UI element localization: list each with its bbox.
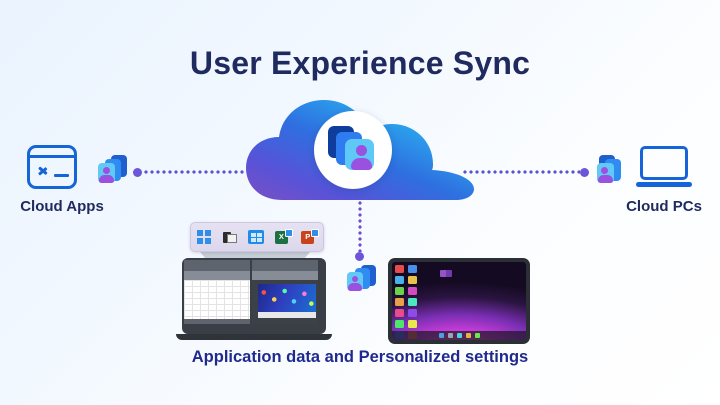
windows-logo-icon[interactable] [196, 229, 213, 246]
taskbar-app-icon[interactable] [475, 333, 480, 338]
person-body-icon [348, 283, 362, 291]
person-head-icon [601, 167, 608, 174]
taskbar-search-icon[interactable] [448, 333, 453, 338]
terminal-prompt-line [54, 174, 69, 177]
endpoint-label-cloud-apps: Cloud Apps [0, 198, 142, 215]
laptop-icon [636, 146, 692, 190]
terminal-console-icon [27, 145, 77, 189]
status-bar [184, 319, 250, 324]
person-body-icon [598, 175, 613, 183]
ribbon-bar [252, 260, 318, 271]
window-preview [440, 270, 452, 277]
person-head-icon [103, 167, 110, 174]
badge-cards-person-right [595, 152, 631, 188]
taskbar-start-icon[interactable] [439, 333, 444, 338]
laptop-bezel [182, 258, 326, 334]
badge-cards-person-bottom [344, 263, 380, 297]
endpoint-cloud-apps[interactable] [22, 145, 82, 195]
powerpoint-app-icon[interactable]: P [301, 229, 318, 246]
chart-legend [258, 312, 316, 318]
terminal-titlebar [30, 155, 74, 158]
sync-badge [285, 229, 293, 237]
ribbon-tools [252, 271, 318, 280]
right-connector-dot [580, 168, 589, 177]
diagram-caption: Application data and Personalized settin… [0, 348, 720, 367]
stacked-cards-person-icon [328, 126, 380, 176]
tablet-taskbar[interactable] [392, 331, 526, 340]
taskbar-app-icon[interactable] [457, 333, 462, 338]
laptop-base [636, 182, 692, 187]
laptop-foot [176, 334, 332, 340]
sync-badge [311, 229, 319, 237]
desktop-icons[interactable] [395, 265, 421, 330]
tablet-device[interactable] [388, 258, 530, 344]
spreadsheet-grid [184, 280, 250, 324]
taskbar-app-icon[interactable] [466, 333, 471, 338]
ribbon-tools [184, 271, 250, 280]
tablet-screen [392, 262, 526, 340]
left-connector-dot [133, 168, 142, 177]
spreadsheet-window[interactable] [184, 260, 250, 324]
bottom-connector-line [358, 200, 362, 252]
excel-app-icon[interactable]: X [275, 229, 292, 246]
endpoint-label-cloud-pcs: Cloud PCs [584, 198, 720, 215]
right-connector-line [462, 170, 580, 174]
windows-taskbar[interactable]: X P [190, 222, 324, 252]
bottom-connector-dot [355, 252, 364, 261]
ribbon-bar [184, 260, 250, 271]
chart-canvas [258, 284, 316, 312]
left-connector-line [143, 170, 261, 174]
chart-window[interactable] [252, 260, 318, 324]
person-body-icon [351, 158, 372, 170]
person-head-icon [352, 276, 358, 282]
laptop-screen [640, 146, 688, 180]
page-title: User Experience Sync [0, 45, 720, 82]
badge-cards-person-left [95, 152, 131, 188]
cloud-node[interactable] [246, 100, 474, 200]
terminal-prompt-chevron [39, 164, 52, 177]
laptop-device[interactable] [176, 258, 332, 342]
person-body-icon [99, 175, 114, 183]
blue-app-icon[interactable] [248, 229, 265, 246]
endpoint-cloud-pcs[interactable] [636, 146, 696, 196]
diagram-canvas: User Experience Sync Cloud Apps [0, 0, 720, 405]
person-head-icon [356, 145, 367, 156]
file-explorer-icon[interactable] [222, 229, 239, 246]
